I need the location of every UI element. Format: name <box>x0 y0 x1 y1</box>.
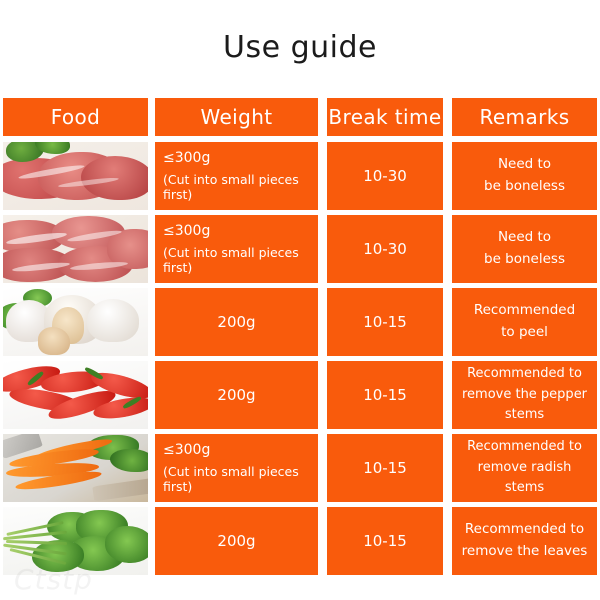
use-guide-table: Food Weight Break time Remarks ≤300g (Cu… <box>3 98 597 580</box>
break-time-cell: 10-30 <box>327 215 443 283</box>
weight-cell: 200g <box>155 288 318 356</box>
food-image-cell <box>3 215 148 283</box>
break-time-cell: 10-15 <box>327 434 443 502</box>
weight-cell: ≤300g (Cut into small pieces first) <box>155 215 318 283</box>
remarks-cell: Recommendedto peel <box>452 288 597 356</box>
weight-cell: ≤300g (Cut into small pieces first) <box>155 142 318 210</box>
column-header-remarks: Remarks <box>452 98 597 136</box>
weight-value: ≤300g <box>163 223 210 239</box>
page-title: Use guide <box>0 30 600 65</box>
break-time-cell: 10-15 <box>327 507 443 575</box>
weight-value: ≤300g <box>163 442 210 458</box>
remarks-cell: Need tobe boneless <box>452 215 597 283</box>
food-image-cell <box>3 361 148 429</box>
weight-value: 200g <box>217 532 255 550</box>
remarks-cell: Need tobe boneless <box>452 142 597 210</box>
table-row: ≤300g (Cut into small pieces first) 10-3… <box>3 142 597 210</box>
food-image-cell <box>3 142 148 210</box>
red-peppers-photo <box>3 361 148 429</box>
remarks-cell: Recommended toremove the leaves <box>452 507 597 575</box>
use-guide-page: Use guide Food Weight Break time Remarks… <box>0 0 600 600</box>
pork-chops-photo <box>3 215 148 283</box>
weight-value: 200g <box>217 313 255 331</box>
weight-note: (Cut into small pieces first) <box>163 245 310 275</box>
weight-cell: 200g <box>155 361 318 429</box>
table-row: 200g 10-15 Recommended toremove the pepp… <box>3 361 597 429</box>
raw-beef-photo <box>3 142 148 210</box>
remarks-cell: Recommended toremove radishstems <box>452 434 597 502</box>
table-row: 200g 10-15 Recommendedto peel <box>3 288 597 356</box>
weight-value: ≤300g <box>163 150 210 166</box>
weight-note: (Cut into small pieces first) <box>163 172 310 202</box>
table-row: ≤300g (Cut into small pieces first) 10-3… <box>3 215 597 283</box>
weight-note: (Cut into small pieces first) <box>163 464 310 494</box>
break-time-cell: 10-15 <box>327 288 443 356</box>
food-image-cell <box>3 434 148 502</box>
weight-value: 200g <box>217 386 255 404</box>
garlic-photo <box>3 288 148 356</box>
table-row: ≤300g (Cut into small pieces first) 10-1… <box>3 434 597 502</box>
column-header-weight: Weight <box>155 98 318 136</box>
food-image-cell <box>3 288 148 356</box>
break-time-cell: 10-30 <box>327 142 443 210</box>
remarks-cell: Recommended toremove the pepperstems <box>452 361 597 429</box>
column-header-break-time: Break time <box>327 98 443 136</box>
weight-cell: 200g <box>155 507 318 575</box>
weight-cell: ≤300g (Cut into small pieces first) <box>155 434 318 502</box>
table-header-row: Food Weight Break time Remarks <box>3 98 597 136</box>
carrots-photo <box>3 434 148 502</box>
watermark: Ctstp <box>14 563 93 596</box>
break-time-cell: 10-15 <box>327 361 443 429</box>
column-header-food: Food <box>3 98 148 136</box>
